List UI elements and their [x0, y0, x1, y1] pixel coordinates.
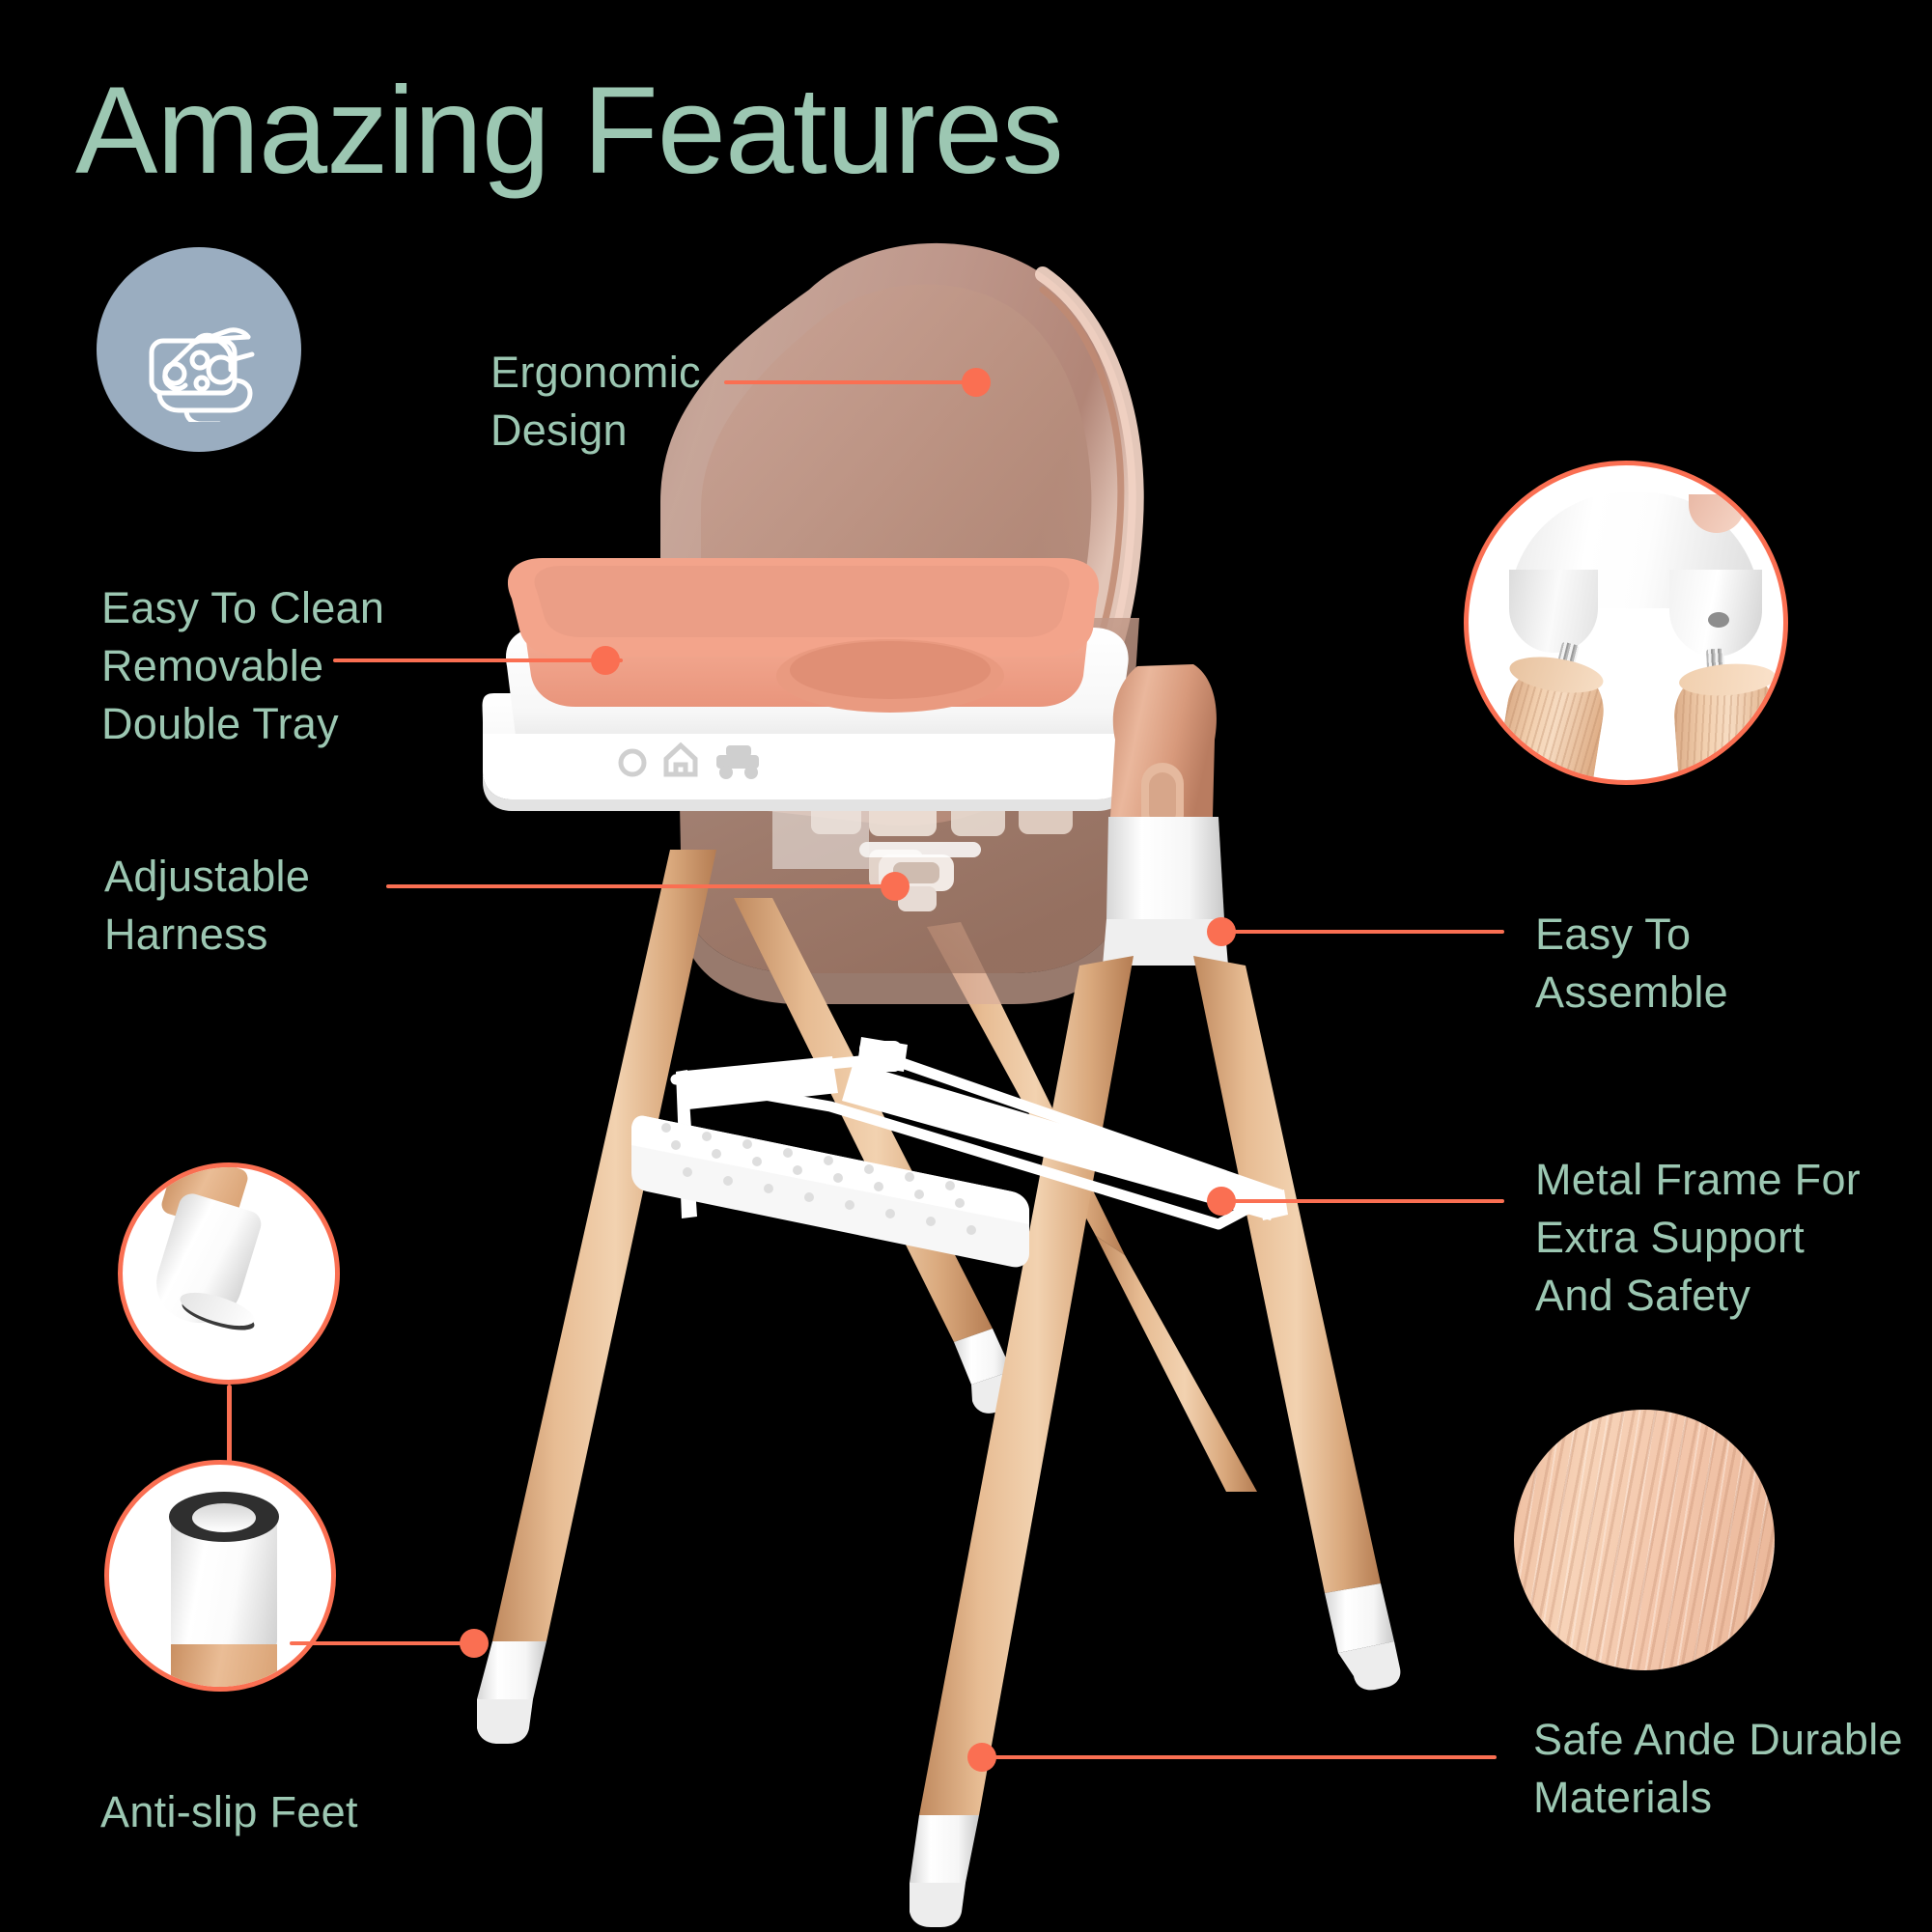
dot-metal-frame — [1207, 1187, 1236, 1216]
label-metal-frame: Metal Frame For Extra Support And Safety — [1535, 1151, 1861, 1325]
dot-safe-materials — [967, 1743, 996, 1772]
connector-foot-insets — [227, 1385, 232, 1468]
label-anti-slip-feet: Anti-slip Feet — [100, 1783, 358, 1841]
dot-anti-slip-feet — [460, 1629, 489, 1658]
connector-adjustable-harness — [386, 884, 898, 888]
connector-safe-materials — [985, 1755, 1497, 1759]
inset-assembly-detail — [1464, 461, 1788, 785]
dot-adjustable-harness — [881, 872, 910, 901]
label-easy-to-clean: Easy To Clean Removable Double Tray — [101, 579, 384, 753]
infographic-canvas: Amazing Features — [0, 0, 1932, 1932]
connector-anti-slip-feet — [290, 1641, 473, 1645]
connector-ergonomic-design — [724, 380, 985, 384]
inset-wood-grain — [1514, 1410, 1775, 1670]
dot-easy-to-clean — [591, 646, 620, 675]
connector-easy-to-assemble — [1224, 930, 1504, 934]
inset-foot-angled — [118, 1162, 340, 1385]
label-safe-materials: Safe Ande Durable Materials — [1533, 1711, 1903, 1827]
inset-foot-top — [104, 1460, 336, 1692]
dot-ergonomic-design — [962, 368, 991, 397]
hand-sponge-icon — [126, 277, 271, 422]
label-ergonomic-design: Ergonomic Design — [490, 344, 701, 460]
label-easy-to-assemble: Easy To Assemble — [1535, 906, 1728, 1022]
dot-easy-to-assemble — [1207, 917, 1236, 946]
connector-metal-frame — [1224, 1199, 1504, 1203]
easy-to-clean-icon-circle — [97, 247, 301, 452]
label-adjustable-harness: Adjustable Harness — [104, 848, 310, 964]
